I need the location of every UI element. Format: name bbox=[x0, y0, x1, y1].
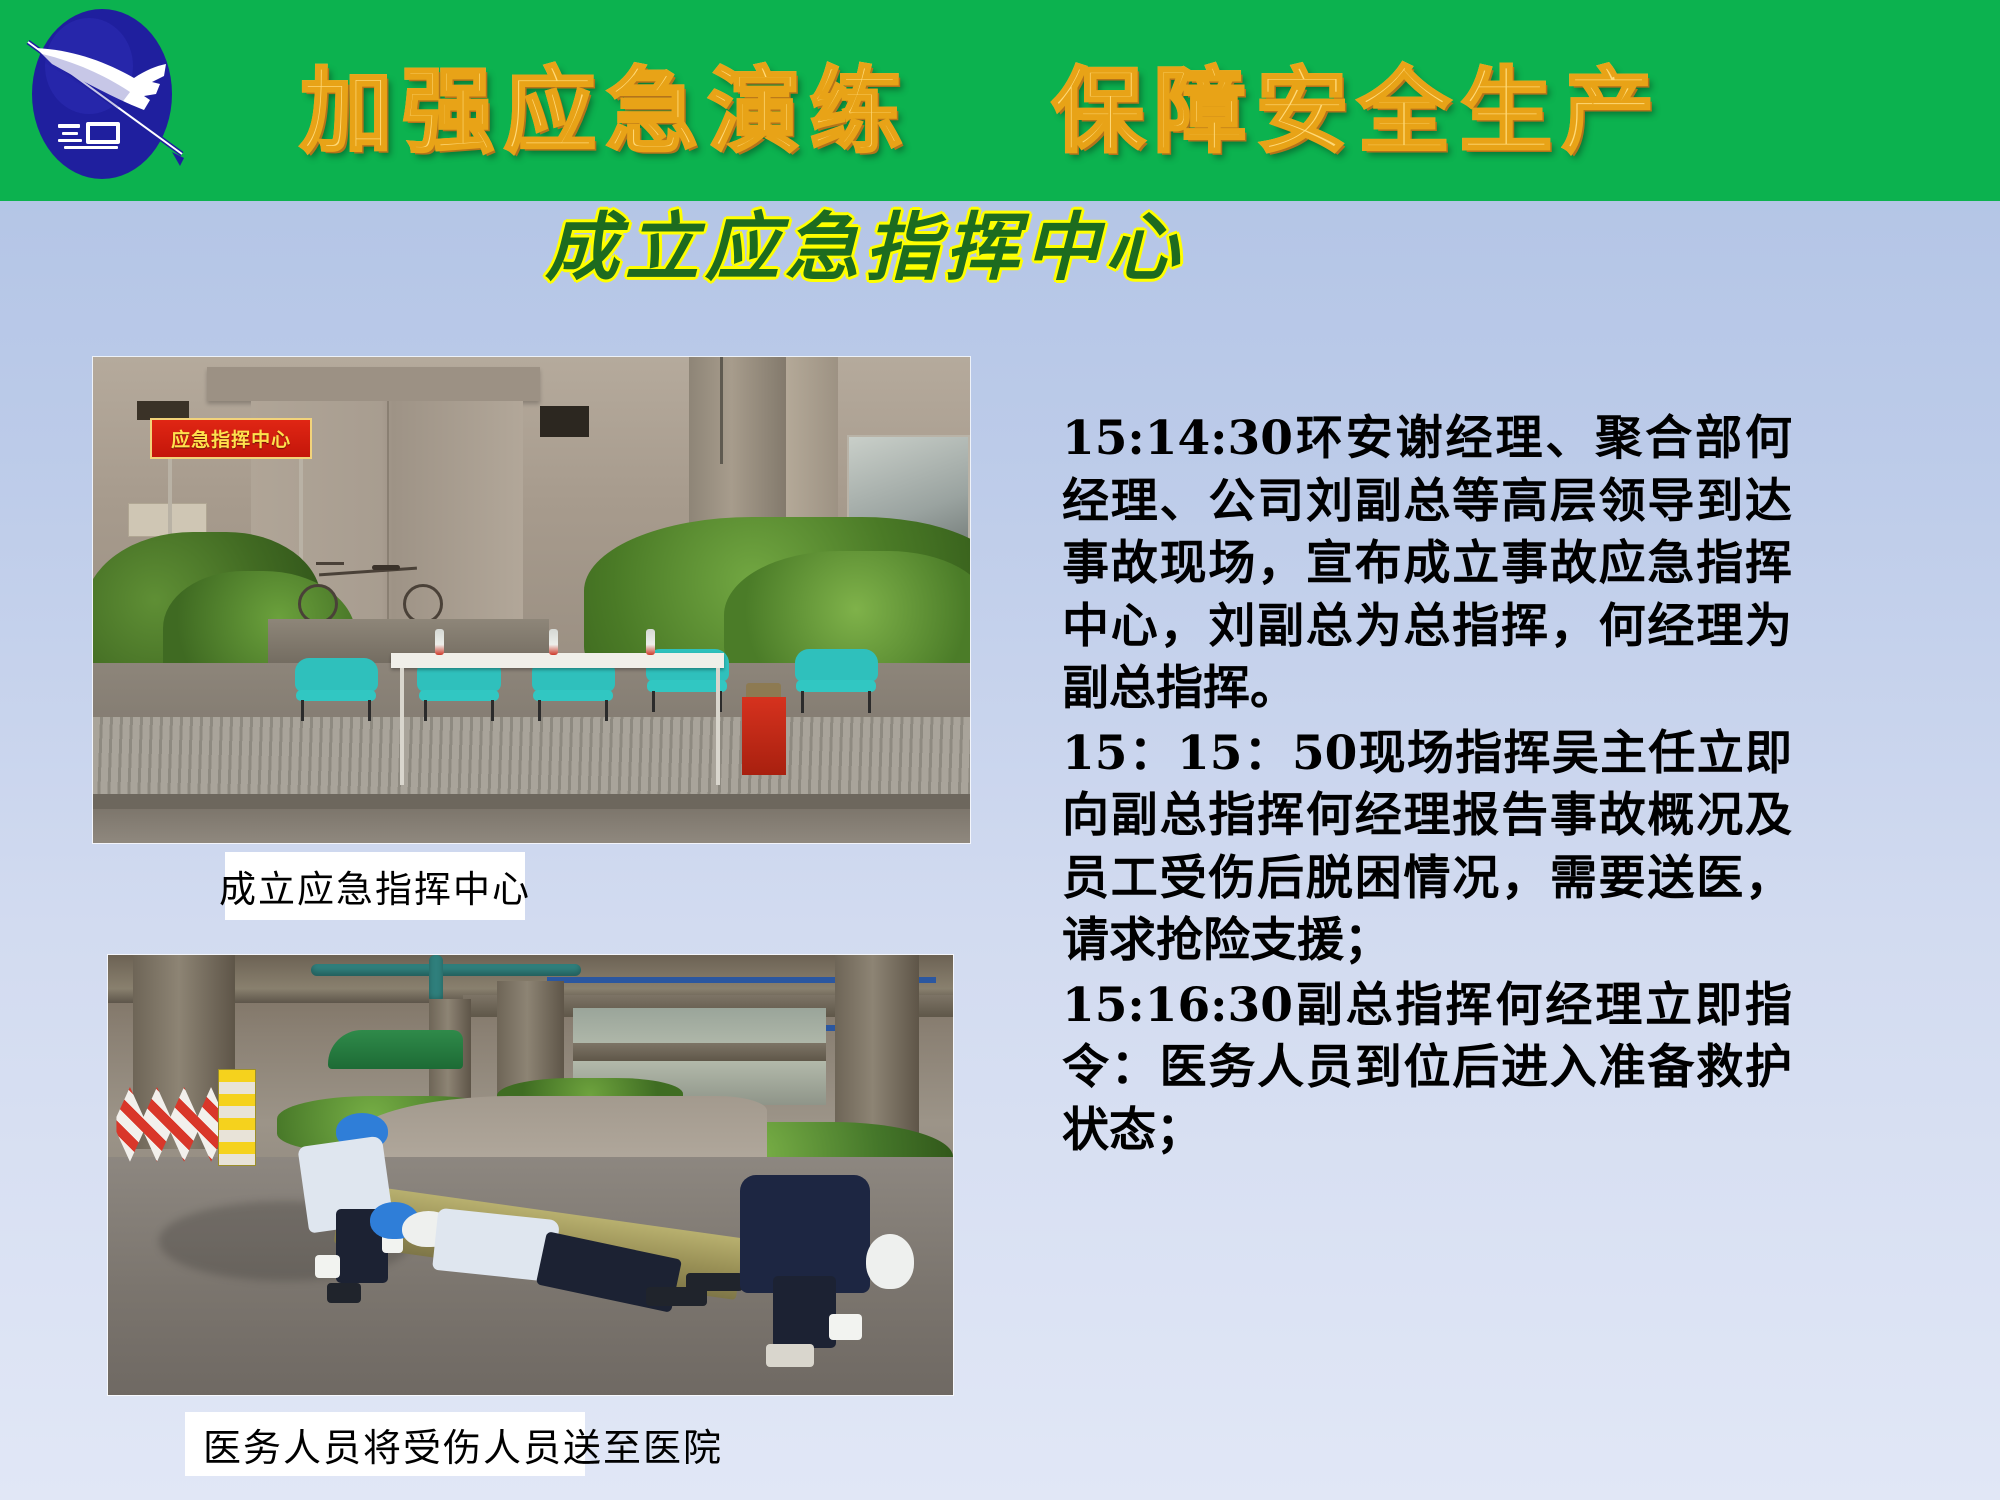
photo1-command-center-sign: 应急指挥中心 bbox=[150, 418, 312, 459]
photo2-caption: 医务人员将受伤人员送至医院 bbox=[185, 1412, 585, 1476]
photo1-paving bbox=[93, 717, 970, 804]
photo1-table-leg bbox=[400, 668, 404, 785]
photo2-green-pipe-horizontal bbox=[311, 964, 581, 976]
page-title: 成立应急指挥中心 bbox=[545, 208, 1245, 288]
photo1-bicycle-wheel-rear bbox=[298, 584, 338, 624]
body-paragraph-3: 15:16:30副总指挥何经理立即指令：医务人员到位后进入准备救护状态； bbox=[1062, 975, 1792, 1163]
photo1-chair-leg bbox=[605, 700, 608, 721]
photo1-chair-1 bbox=[295, 658, 378, 716]
photo1-caption: 成立应急指挥中心 bbox=[225, 852, 525, 920]
photo2-spare-white-helmet bbox=[866, 1234, 914, 1289]
photo1-wall-fixture-right bbox=[540, 406, 588, 438]
photo1-chair-5 bbox=[795, 649, 878, 707]
photo2-green-pipe-bend bbox=[429, 955, 443, 1003]
photo1-chair-leg bbox=[538, 700, 541, 721]
photo1-bicycle bbox=[295, 551, 470, 629]
photo1-chair-leg bbox=[424, 700, 427, 721]
photo-medics-transport-injured bbox=[108, 955, 953, 1395]
xiangying-eagle-logo bbox=[14, 4, 194, 194]
banner-headline-left: 加强应急演练 bbox=[300, 37, 912, 170]
photo1-cable bbox=[720, 357, 723, 464]
photo1-water-bottle bbox=[435, 629, 444, 655]
photo1-lintel bbox=[207, 367, 540, 401]
photo1-chair-seat bbox=[419, 690, 499, 702]
body-text-block: 15:14:30环安谢经理、聚合部何经理、公司刘副总等高层领导到达事故现场，宣布… bbox=[1062, 408, 1792, 1164]
photo1-bicycle-seat bbox=[372, 565, 400, 570]
photo1-chair-seat bbox=[796, 680, 876, 692]
photo1-table-leg bbox=[716, 668, 720, 785]
photo2-rescuer-right bbox=[725, 1175, 911, 1386]
banner-headline: 加强应急演练 保障安全生产 bbox=[300, 38, 1980, 168]
photo1-bicycle-wheel-front bbox=[403, 584, 443, 624]
photo1-chair-leg bbox=[491, 700, 494, 721]
photo2-injured-person bbox=[370, 1188, 776, 1329]
photo1-chair-back bbox=[295, 658, 378, 692]
photo2-rescuer-shoe bbox=[327, 1283, 360, 1304]
photo1-chair-leg bbox=[868, 691, 871, 713]
logo-svg bbox=[14, 4, 194, 194]
photo1-chair-leg bbox=[801, 691, 804, 713]
photo1-chair-seat bbox=[296, 690, 376, 702]
photo1-chair-leg bbox=[368, 700, 371, 721]
photo1-bicycle-frame bbox=[319, 567, 417, 577]
body-paragraph-2: 15：15：50现场指挥吴主任立即向副总指挥何经理报告事故概况及员工受伤后脱困情… bbox=[1062, 723, 1792, 973]
photo2-green-truck bbox=[328, 1030, 463, 1070]
photo2-rescuer-glove bbox=[315, 1255, 339, 1278]
photo1-table bbox=[391, 653, 724, 668]
photo1-road bbox=[93, 809, 970, 843]
photo2-distant-beam bbox=[573, 1043, 827, 1061]
photo1-chair-back bbox=[795, 649, 878, 683]
header-banner: 加强应急演练 保障安全生产 bbox=[0, 0, 2000, 201]
photo-emergency-command-center: 应急指挥中心 bbox=[93, 357, 970, 843]
banner-headline-right: 保障安全生产 bbox=[1052, 37, 1664, 170]
photo1-chair-leg bbox=[301, 700, 304, 721]
photo1-chair-leg bbox=[652, 691, 655, 712]
photo2-warning-bollard bbox=[218, 1069, 256, 1166]
photo1-water-bottle bbox=[549, 629, 558, 655]
photo1-bicycle-handlebar bbox=[316, 562, 344, 565]
photo1-water-bottle bbox=[646, 629, 655, 655]
photo2-rescuer-right-shoe bbox=[766, 1344, 814, 1367]
photo1-fire-extinguisher-box bbox=[742, 697, 786, 775]
photo1-chair-seat bbox=[533, 690, 613, 702]
body-paragraph-1: 15:14:30环安谢经理、聚合部何经理、公司刘副总等高层领导到达事故现场，宣布… bbox=[1062, 408, 1792, 721]
photo2-rescuer-right-glove bbox=[829, 1314, 862, 1339]
photo2-rescuer-right-pants bbox=[773, 1276, 836, 1348]
